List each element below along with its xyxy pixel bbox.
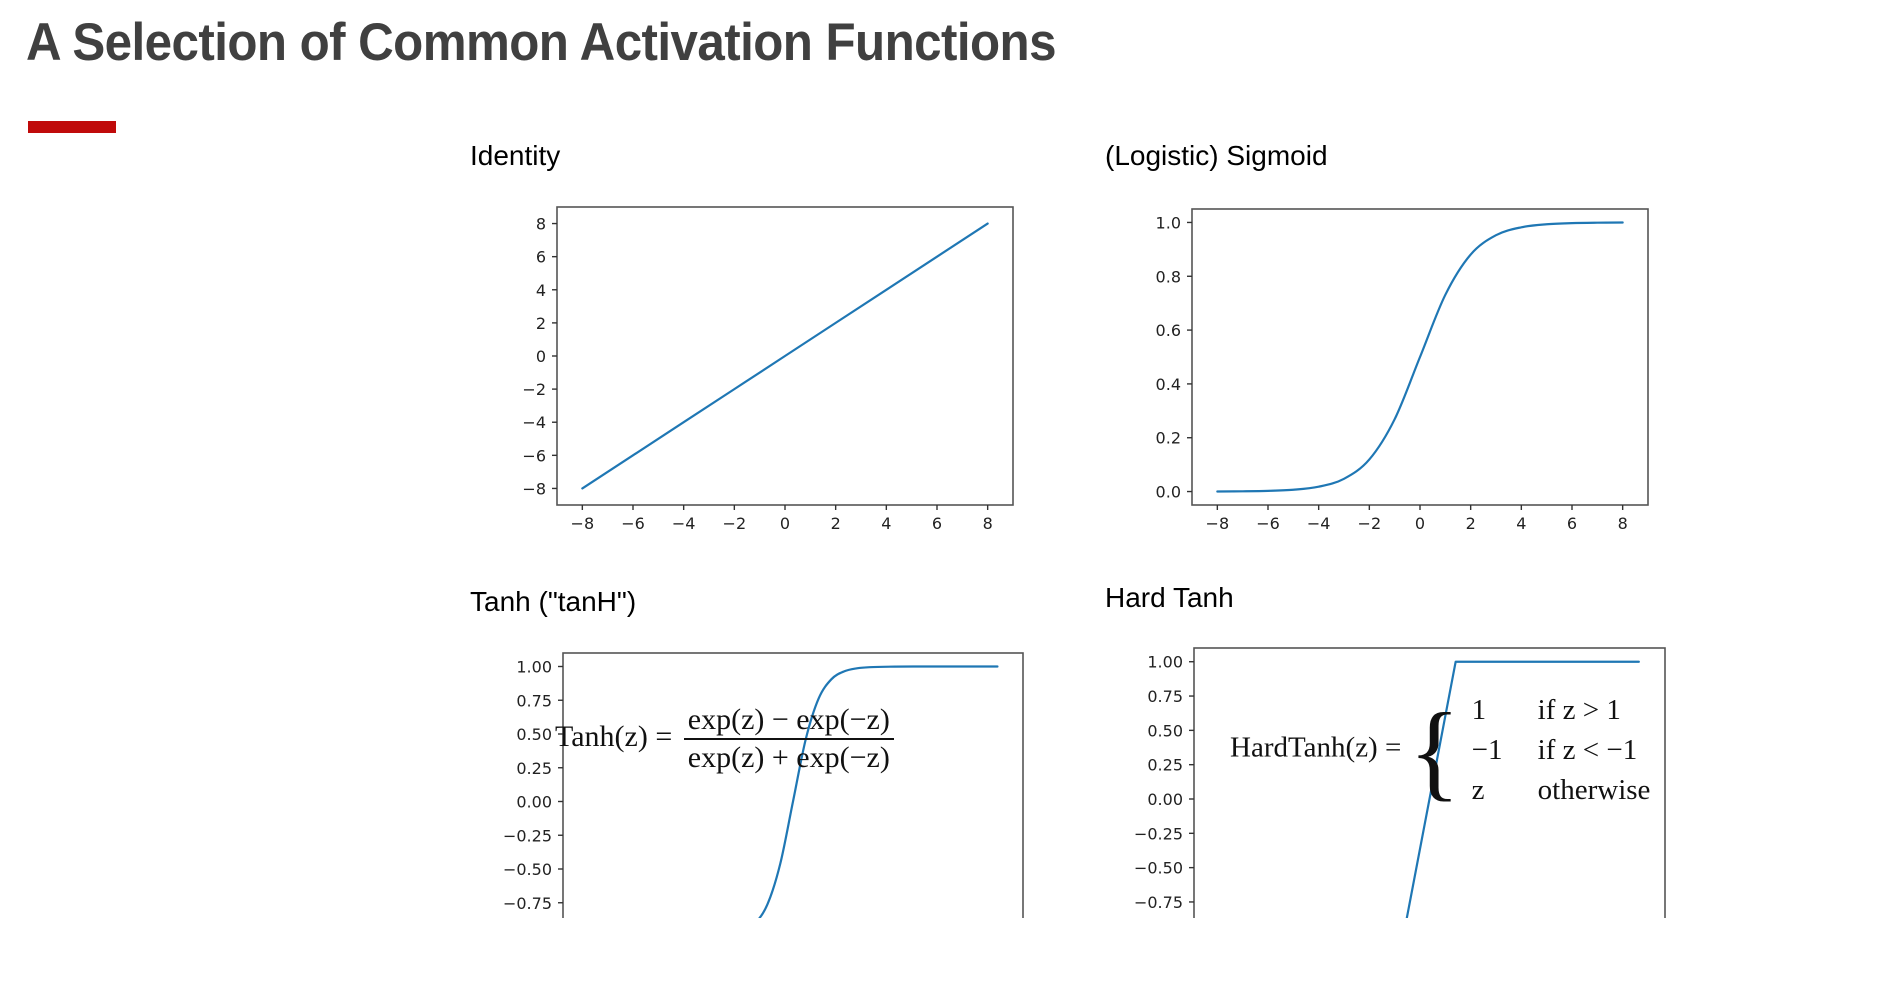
svg-text:0.00: 0.00 <box>516 793 552 812</box>
chart-panel-sigmoid: (Logistic) Sigmoid −8−6−4−2024680.00.20.… <box>1075 130 1675 530</box>
svg-text:6: 6 <box>536 248 546 267</box>
hardtanh-formula-cases: { 1if z > 1−1if z < −1zotherwise <box>1409 690 1651 810</box>
hardtanh-case-value: z <box>1472 770 1538 810</box>
chart-panel-hardtanh: Hard Tanh −8−6−4−202468−1.00−0.75−0.50−0… <box>1075 498 1675 918</box>
svg-text:−0.50: −0.50 <box>1134 859 1183 878</box>
chart-sigmoid: −8−6−4−2024680.00.20.40.60.81.0 <box>1075 130 1675 530</box>
hardtanh-case-value: 1 <box>1472 690 1538 730</box>
chart-panel-identity: Identity −8−6−4−202468−8−6−4−202468 <box>440 130 1040 530</box>
svg-text:1.00: 1.00 <box>516 658 552 677</box>
hardtanh-case-condition: if z > 1 <box>1538 694 1621 726</box>
chart-identity: −8−6−4−202468−8−6−4−202468 <box>440 130 1040 530</box>
hardtanh-formula-lhs: HardTanh(z) = <box>1230 732 1401 764</box>
svg-text:2: 2 <box>536 314 546 333</box>
svg-text:0.50: 0.50 <box>516 725 552 744</box>
svg-text:0.25: 0.25 <box>516 759 552 778</box>
svg-text:−0.75: −0.75 <box>1134 893 1183 912</box>
svg-text:−2: −2 <box>522 380 546 399</box>
svg-text:−4: −4 <box>522 413 546 432</box>
svg-text:0.00: 0.00 <box>1147 790 1183 809</box>
hardtanh-cases-rows: 1if z > 1−1if z < −1zotherwise <box>1472 690 1651 810</box>
svg-text:0.75: 0.75 <box>1147 687 1183 706</box>
left-curly-brace-icon: { <box>1409 713 1461 791</box>
svg-text:0: 0 <box>536 347 546 366</box>
svg-text:0.8: 0.8 <box>1156 267 1181 286</box>
svg-text:0.25: 0.25 <box>1147 756 1183 775</box>
hardtanh-case-row: −1if z < −1 <box>1472 730 1651 770</box>
svg-text:4: 4 <box>536 281 546 300</box>
hardtanh-case-row: zotherwise <box>1472 770 1651 810</box>
hardtanh-case-value: −1 <box>1472 730 1538 770</box>
svg-text:−0.75: −0.75 <box>503 894 552 913</box>
svg-text:0.50: 0.50 <box>1147 721 1183 740</box>
svg-text:8: 8 <box>536 215 546 234</box>
svg-text:0.75: 0.75 <box>516 691 552 710</box>
svg-text:0.6: 0.6 <box>1156 321 1181 340</box>
svg-text:0.2: 0.2 <box>1156 429 1181 448</box>
svg-text:−0.25: −0.25 <box>503 826 552 845</box>
svg-text:−8: −8 <box>522 479 546 498</box>
chart-panel-tanh: Tanh ("tanH") −8−6−4−202468−1.00−0.75−0.… <box>440 498 1040 918</box>
page-title: A Selection of Common Activation Functio… <box>26 12 1056 73</box>
svg-text:1.0: 1.0 <box>1156 213 1181 232</box>
svg-text:0.4: 0.4 <box>1156 375 1181 394</box>
hardtanh-case-condition: if z < −1 <box>1538 734 1638 766</box>
hardtanh-formula: HardTanh(z) = { 1if z > 1−1if z < −1zoth… <box>1230 690 1650 810</box>
tanh-formula-numerator: exp(z) − exp(−z) <box>684 703 894 738</box>
hardtanh-case-row: 1if z > 1 <box>1472 690 1651 730</box>
svg-text:−0.25: −0.25 <box>1134 824 1183 843</box>
svg-text:−0.50: −0.50 <box>503 860 552 879</box>
tanh-formula: Tanh(z) = exp(z) − exp(−z) exp(z) + exp(… <box>555 703 898 775</box>
svg-text:1.00: 1.00 <box>1147 653 1183 672</box>
title-accent-bar <box>28 121 116 133</box>
tanh-formula-fraction: exp(z) − exp(−z) exp(z) + exp(−z) <box>684 703 894 775</box>
tanh-formula-denominator: exp(z) + exp(−z) <box>684 738 894 775</box>
svg-text:−6: −6 <box>522 446 546 465</box>
hardtanh-case-condition: otherwise <box>1538 774 1651 806</box>
tanh-formula-lhs: Tanh(z) = <box>555 720 672 753</box>
